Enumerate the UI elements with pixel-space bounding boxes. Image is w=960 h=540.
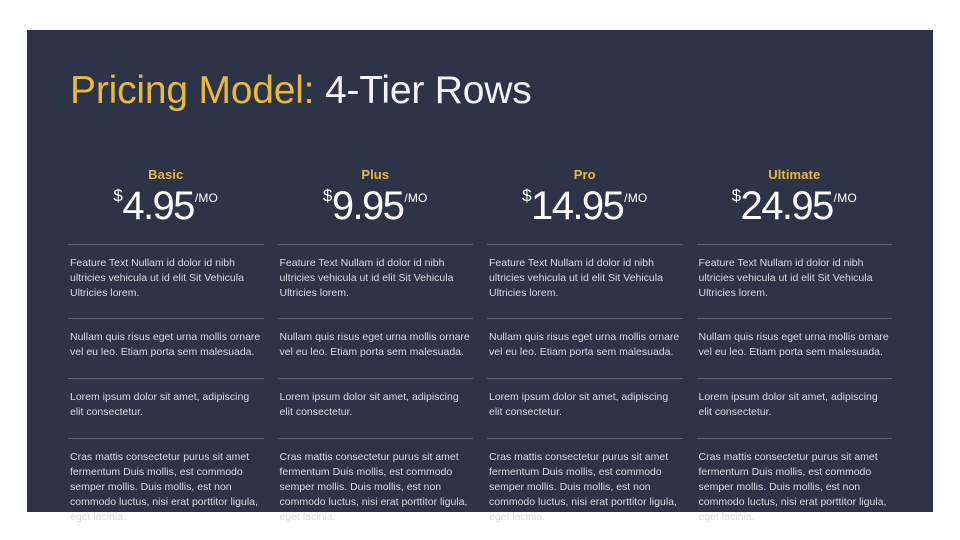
feature-list-ultimate: Feature Text Nullam id dolor id nibh ult… xyxy=(697,244,893,537)
feature-row: Nullam quis risus eget urna mollis ornar… xyxy=(487,318,683,378)
price-amount: 4.95 xyxy=(122,184,193,228)
page-title: Pricing Model: 4-Tier Rows xyxy=(70,68,532,115)
tier-name-plus: Plus xyxy=(278,168,474,182)
tier-name-ultimate: Ultimate xyxy=(697,168,893,182)
slide-canvas: Pricing Model: 4-Tier Rows Basic $4.95/M… xyxy=(0,0,960,540)
tier-price-plus: $9.95/MO xyxy=(278,186,474,226)
currency-symbol: $ xyxy=(522,186,531,205)
pricing-column-plus[interactable]: Plus $9.95/MO Feature Text Nullam id dol… xyxy=(278,168,474,537)
pricing-column-ultimate[interactable]: Ultimate $24.95/MO Feature Text Nullam i… xyxy=(697,168,893,537)
price-amount: 24.95 xyxy=(741,184,833,228)
currency-symbol: $ xyxy=(323,186,332,205)
price-amount: 14.95 xyxy=(531,184,623,228)
page-title-plain: 4-Tier Rows xyxy=(314,69,531,112)
pricing-column-basic[interactable]: Basic $4.95/MO Feature Text Nullam id do… xyxy=(68,168,264,537)
feature-row: Lorem ipsum dolor sit amet, adipiscing e… xyxy=(697,378,893,438)
page-title-accent: Pricing Model: xyxy=(70,69,314,112)
feature-row: Feature Text Nullam id dolor id nibh ult… xyxy=(278,244,474,318)
feature-row: Lorem ipsum dolor sit amet, adipiscing e… xyxy=(487,378,683,438)
billing-period: /MO xyxy=(624,191,647,205)
feature-row: Lorem ipsum dolor sit amet, adipiscing e… xyxy=(278,378,474,438)
feature-row: Nullam quis risus eget urna mollis ornar… xyxy=(68,318,264,378)
pricing-columns: Basic $4.95/MO Feature Text Nullam id do… xyxy=(68,168,892,537)
feature-row: Lorem ipsum dolor sit amet, adipiscing e… xyxy=(68,378,264,438)
pricing-column-pro[interactable]: Pro $14.95/MO Feature Text Nullam id dol… xyxy=(487,168,683,537)
currency-symbol: $ xyxy=(732,186,741,205)
tier-price-pro: $14.95/MO xyxy=(487,186,683,226)
feature-row: Feature Text Nullam id dolor id nibh ult… xyxy=(697,244,893,318)
feature-list-plus: Feature Text Nullam id dolor id nibh ult… xyxy=(278,244,474,537)
tier-price-basic: $4.95/MO xyxy=(68,186,264,226)
tier-name-basic: Basic xyxy=(68,168,264,182)
feature-row: Nullam quis risus eget urna mollis ornar… xyxy=(697,318,893,378)
feature-list-pro: Feature Text Nullam id dolor id nibh ult… xyxy=(487,244,683,537)
price-amount: 9.95 xyxy=(332,184,403,228)
feature-list-basic: Feature Text Nullam id dolor id nibh ult… xyxy=(68,244,264,537)
feature-row: Cras mattis consectetur purus sit amet f… xyxy=(68,438,264,537)
pricing-panel: Pricing Model: 4-Tier Rows Basic $4.95/M… xyxy=(27,30,933,512)
feature-row: Cras mattis consectetur purus sit amet f… xyxy=(278,438,474,537)
billing-period: /MO xyxy=(404,191,427,205)
billing-period: /MO xyxy=(834,191,857,205)
feature-row: Feature Text Nullam id dolor id nibh ult… xyxy=(487,244,683,318)
billing-period: /MO xyxy=(195,191,218,205)
feature-row: Cras mattis consectetur purus sit amet f… xyxy=(487,438,683,537)
tier-price-ultimate: $24.95/MO xyxy=(697,186,893,226)
feature-row: Nullam quis risus eget urna mollis ornar… xyxy=(278,318,474,378)
feature-row: Feature Text Nullam id dolor id nibh ult… xyxy=(68,244,264,318)
tier-name-pro: Pro xyxy=(487,168,683,182)
feature-row: Cras mattis consectetur purus sit amet f… xyxy=(697,438,893,537)
